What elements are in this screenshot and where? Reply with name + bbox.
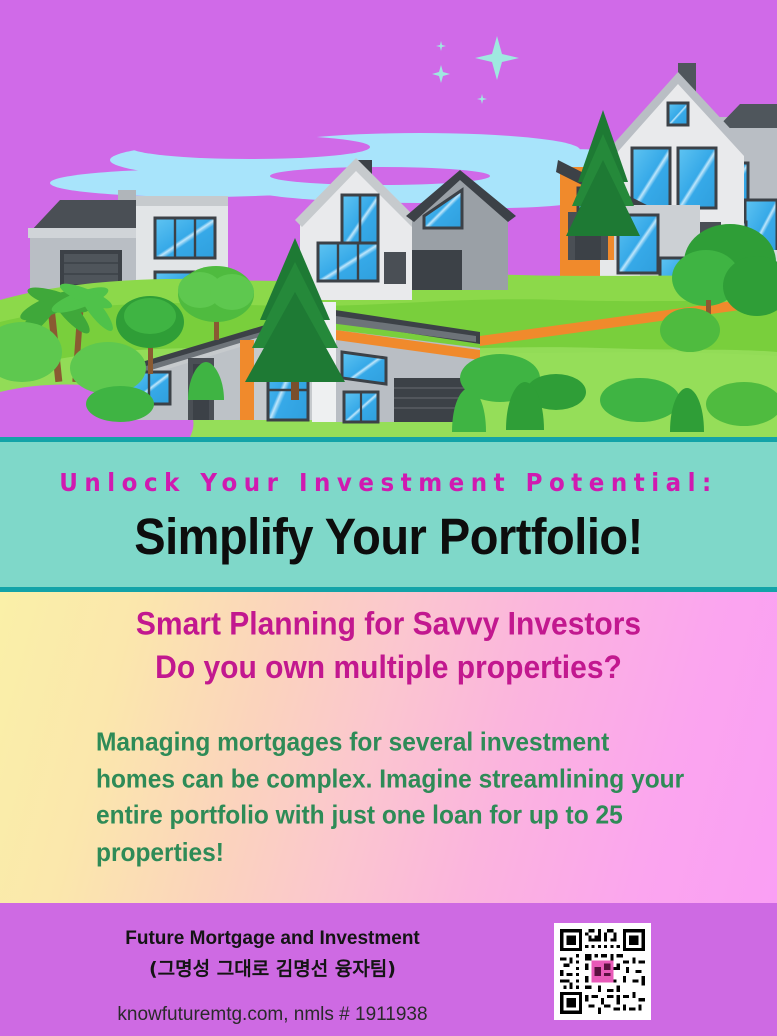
main-headline: Simplify Your Portfolio! [0, 492, 777, 565]
footer-band: Future Mortgage and Investment (그명성 그대로 … [0, 903, 777, 1036]
contact-info[interactable]: knowfuturemtg.com, nmls # 1911938 [0, 981, 545, 1026]
body-band: Smart Planning for Savvy Investors Do yo… [0, 592, 777, 903]
footer-text-block: Future Mortgage and Investment (그명성 그대로 … [0, 903, 545, 1026]
company-name: Future Mortgage and Investment [0, 903, 545, 950]
headline-band: Unlock Your Investment Potential: Simpli… [0, 437, 777, 592]
body-paragraph: Managing mortgages for several investmen… [0, 680, 777, 872]
subheading-primary: Smart Planning for Savvy Investors [0, 590, 777, 643]
hero-illustration [0, 0, 777, 437]
eyebrow-text: Unlock Your Investment Potential: [0, 439, 777, 497]
flyer-page: Unlock Your Investment Potential: Simpli… [0, 0, 777, 1036]
qr-code-icon[interactable] [554, 923, 651, 1020]
company-name-korean: (그명성 그대로 김명선 융자팀) [0, 950, 545, 981]
